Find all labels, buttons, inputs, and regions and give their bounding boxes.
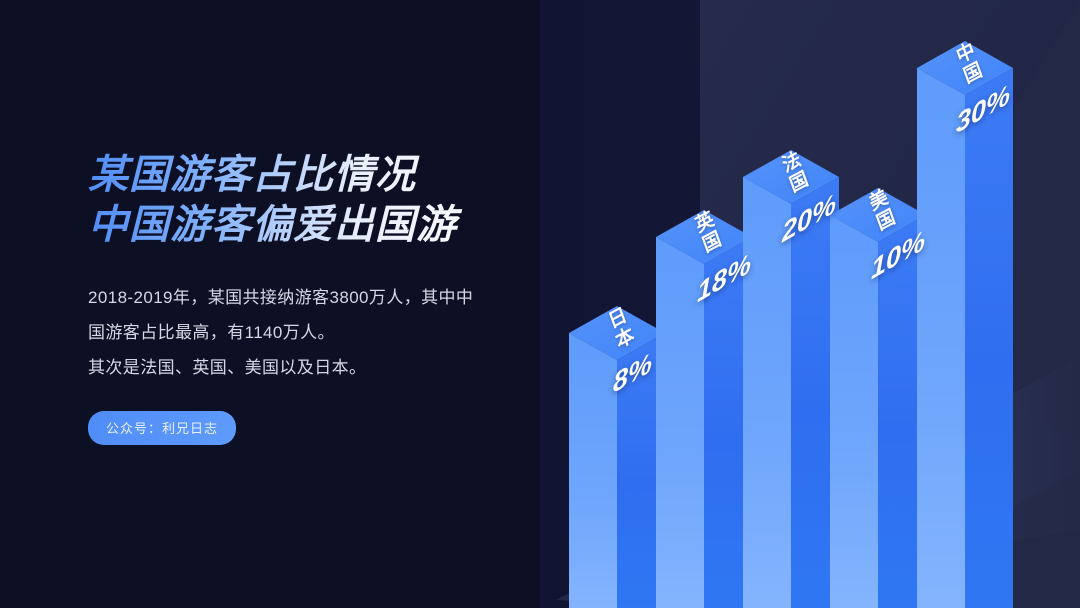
bar-japan[interactable] [569,306,665,608]
bar-france[interactable] [743,150,839,608]
body-paragraph-1: 2018-2019年，某国共接纳游客3800万人，其中中 [88,280,518,315]
body-paragraph-3: 其次是法国、英国、美国以及日本。 [88,350,518,385]
page-title-line2: 中国游客偏爱出国游 [88,200,518,250]
bar-uk[interactable] [656,210,752,608]
bar-china-left [917,68,965,608]
body-paragraph-2: 国游客占比最高，有1140万人。 [88,315,518,350]
account-badge: 公众号：利兄日志 [88,411,236,445]
infographic-canvas: 某国游客占比情况 中国游客偏爱出国游 2018-2019年，某国共接纳游客380… [0,0,1080,608]
bar-usa[interactable] [830,188,926,608]
bar-china-front [965,68,1013,608]
bar-china[interactable] [917,41,1013,608]
bar-france-left [743,177,791,608]
page-title-line1: 某国游客占比情况 [88,150,518,200]
ground-plane [0,596,560,608]
bar-uk-left [656,237,704,608]
bar-usa-left [830,215,878,608]
bar-japan-left [569,333,617,608]
body-copy: 2018-2019年，某国共接纳游客3800万人，其中中 国游客占比最高，有11… [88,280,518,385]
text-block: 某国游客占比情况 中国游客偏爱出国游 2018-2019年，某国共接纳游客380… [88,150,518,445]
